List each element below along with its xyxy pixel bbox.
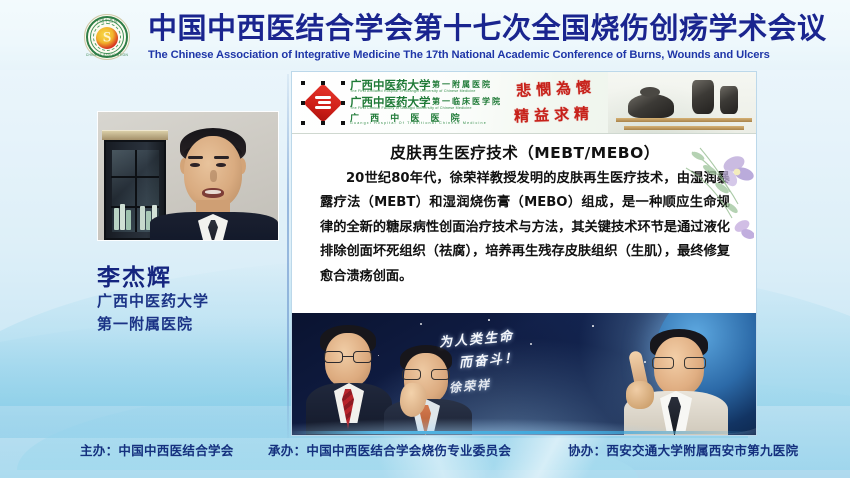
hospital-name-en-3: Guangxi Hospital Of Traditional Chinese … — [350, 121, 487, 125]
presentation-slide[interactable]: 广西中医药大学 第一附属医院 The First Affiliated Hosp… — [291, 71, 757, 436]
webcam-person-eye — [216, 163, 226, 167]
footer-cohost: 协办：西安交通大学附属西安市第九医院 — [568, 440, 798, 459]
footer-organizer: 承办：中国中西医结合学会烧伤专业委员会 — [268, 440, 511, 459]
hospital-name-en-2: The First Clinical Faculty of Guangxi Un… — [350, 106, 472, 110]
emblem-arc-top-text: 中国中西医 — [84, 18, 130, 24]
conference-title-en: The Chinese Association of Integrative M… — [148, 49, 808, 61]
conference-title-cn: 中国中西医结合学会第十七次全国烧伤创疡学术会议 — [148, 13, 788, 43]
webcam-person-nose — [210, 170, 217, 182]
traditional-medicine-jars-art — [608, 72, 757, 134]
banner-calligraphy-line-1: 悲憫為懷 — [516, 76, 597, 101]
conference-footer: 主办：中国中西医结合学会 承办：中国中西医结合学会烧伤专业委员会 协办：西安交通… — [0, 426, 850, 478]
panel-divider — [287, 74, 289, 438]
slide-body-text: 20世纪80年代，徐荣祥教授发明的皮肤再生医疗技术，由湿润暴露疗法（MEBT）和… — [320, 167, 730, 289]
emblem-arc-bottom-text: CHINESE ASSOCIATION — [84, 53, 130, 57]
webcam-shelf-top-object — [102, 130, 168, 140]
speaker-organization-2: 第一附属医院 — [97, 313, 193, 334]
conference-header: 中国中西医 S CHINESE ASSOCIATION 中国中西医结合学会第十七… — [0, 0, 850, 72]
speaker-name: 李杰辉 — [97, 258, 172, 292]
speaker-webcam-feed[interactable] — [98, 112, 278, 240]
banner-rule — [292, 133, 757, 134]
hospital-diamond-logo-icon — [301, 81, 345, 125]
speaker-organization-1: 广西中医药大学 — [97, 290, 209, 311]
webcam-person-eye — [190, 163, 200, 167]
hospital-name-en-1: The First Affiliated Hospital of Guangxi… — [350, 89, 476, 93]
footer-host: 主办：中国中西医结合学会 — [80, 440, 234, 459]
photo-calligraphy-line-2: 而奋斗！ — [458, 343, 571, 372]
emblem-glyph: S — [103, 30, 111, 45]
broadcast-stage: 中国中西医 S CHINESE ASSOCIATION 中国中西医结合学会第十七… — [0, 0, 850, 478]
slide-title: 皮肤再生医疗技术（MEBT/MEBO） — [292, 141, 757, 163]
slide-header-banner: 广西中医药大学 第一附属医院 The First Affiliated Hosp… — [292, 72, 757, 134]
cmia-emblem-icon: 中国中西医 S CHINESE ASSOCIATION — [84, 14, 130, 60]
three-experts-photo: 为人类生命 而奋斗！ 徐荣祥 — [292, 313, 757, 435]
banner-calligraphy: 悲憫為懷 精益求精 — [514, 76, 614, 130]
webcam-person-brow — [188, 156, 203, 159]
webcam-person-brow — [214, 156, 229, 159]
banner-calligraphy-line-2: 精益求精 — [514, 103, 595, 127]
webcam-person-mouth — [202, 188, 224, 198]
